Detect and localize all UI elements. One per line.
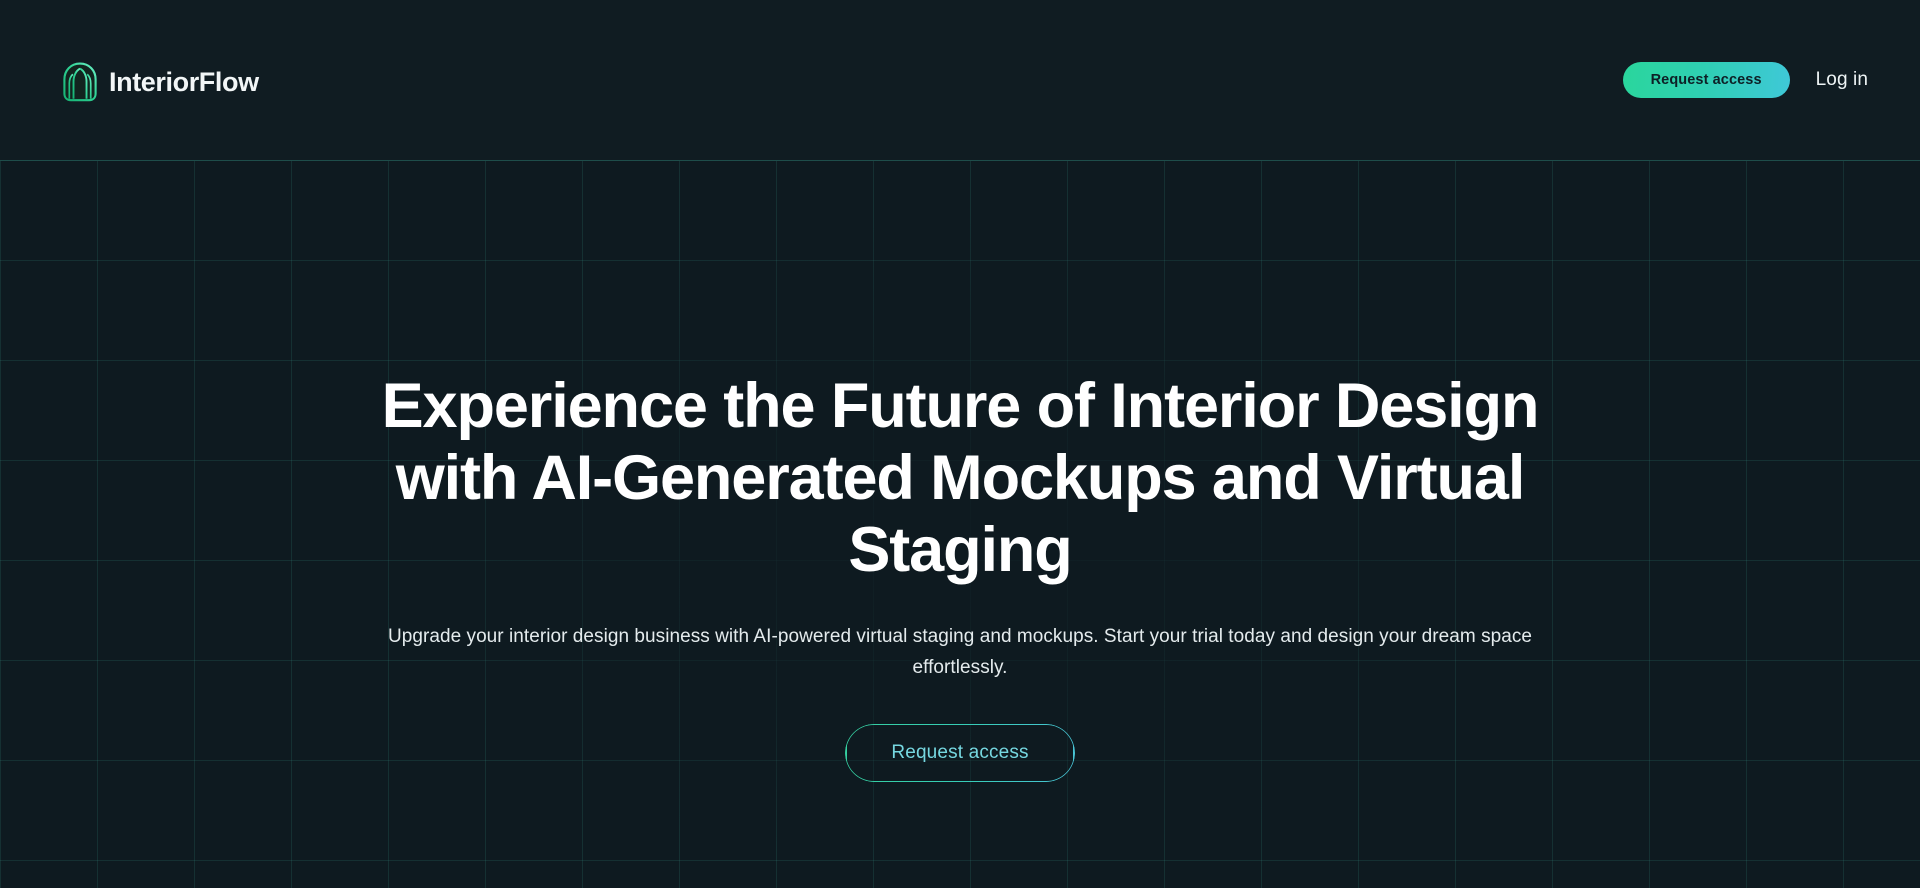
site-header: InteriorFlow Request access Log in — [0, 0, 1920, 161]
hero-headline: Experience the Future of Interior Design… — [370, 371, 1550, 586]
hero-subheadline: Upgrade your interior design business wi… — [375, 622, 1545, 684]
hero-request-access-button[interactable]: Request access — [845, 724, 1074, 782]
hero-content: Experience the Future of Interior Design… — [360, 161, 1560, 782]
header-nav: Request access Log in — [1623, 62, 1868, 98]
header-request-access-button[interactable]: Request access — [1623, 62, 1790, 98]
arch-logo-icon — [62, 62, 98, 102]
brand-name: InteriorFlow — [109, 69, 259, 96]
brand-logo[interactable]: InteriorFlow — [62, 62, 259, 102]
hero-section: Experience the Future of Interior Design… — [0, 161, 1920, 888]
hero-cta-container: Request access — [360, 724, 1560, 782]
header-login-link[interactable]: Log in — [1816, 69, 1868, 91]
landing-page: InteriorFlow Request access Log in Exper… — [0, 0, 1920, 888]
